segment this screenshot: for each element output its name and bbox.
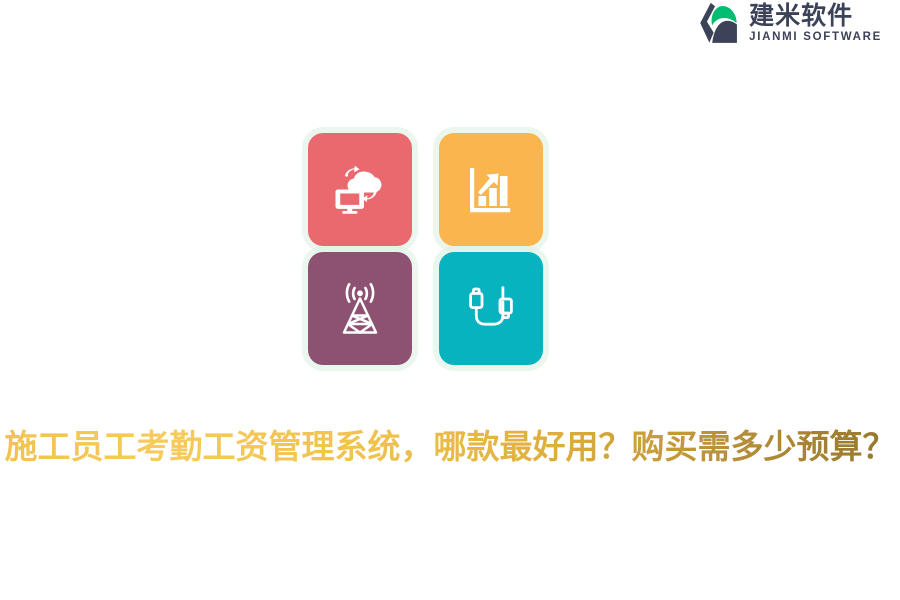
cloud-sync-monitor-icon — [332, 165, 388, 215]
bar-chart-growth-icon — [467, 166, 515, 214]
brand-logo[interactable]: 建米软件 JIANMI SOFTWARE — [694, 0, 882, 46]
feature-tile-cluster — [308, 133, 543, 365]
tile-analytics[interactable] — [439, 133, 543, 246]
jianmi-logo-mark-icon — [694, 0, 740, 46]
tile-cloud-sync[interactable] — [308, 133, 412, 246]
brand-text-block: 建米软件 JIANMI SOFTWARE — [749, 3, 882, 44]
page-title: 施工员工考勤工资管理系统，哪款最好用？购买需多少预算？ — [0, 425, 900, 470]
tile-broadcast[interactable] — [308, 252, 412, 365]
tile-connectivity[interactable] — [439, 252, 543, 365]
usb-cable-icon — [467, 283, 515, 335]
brand-name-cn: 建米软件 — [749, 3, 853, 28]
radio-tower-icon — [334, 282, 386, 336]
brand-name-en: JIANMI SOFTWARE — [749, 32, 882, 44]
